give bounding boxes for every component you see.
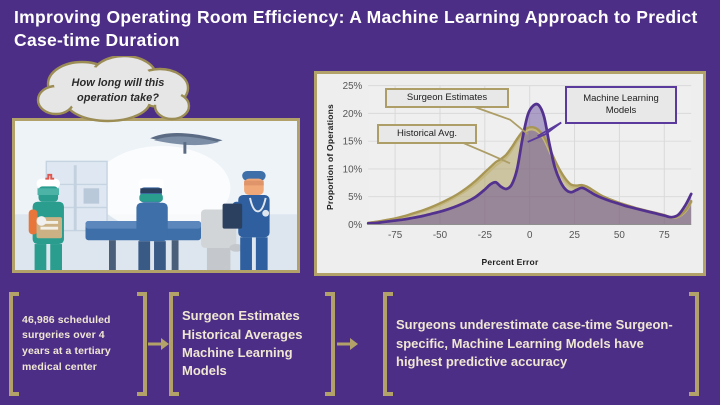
y-tick: 0% bbox=[348, 220, 363, 231]
x-tick: 50 bbox=[614, 230, 626, 241]
flow-box-dataset: 46,986 scheduled surgeries over 4 years … bbox=[8, 292, 148, 396]
thought-bubble: How long will this operation take? bbox=[22, 56, 212, 138]
callout-surgeon-estimates: Surgeon Estimates bbox=[385, 88, 509, 108]
flow-box-dataset-text: 46,986 scheduled surgeries over 4 years … bbox=[8, 313, 148, 376]
flow-arrow-2 bbox=[337, 336, 359, 352]
flow-box-findings: Surgeons underestimate case-time Surgeon… bbox=[382, 292, 700, 396]
chart-y-axis-title: Proportion of Operations bbox=[325, 97, 335, 217]
x-tick: 25 bbox=[569, 230, 581, 241]
bracket-left bbox=[168, 292, 180, 396]
bracket-left bbox=[8, 292, 20, 396]
thought-bubble-text: How long will this operation take? bbox=[48, 76, 188, 106]
chart-panel: -75-50-250255075 0%5%10%15%20%25% Surgeo… bbox=[314, 71, 706, 276]
operating-room-svg bbox=[15, 121, 297, 270]
flow-box-methods-text: Surgeon Estimates Historical Averages Ma… bbox=[168, 307, 336, 381]
flow-box-methods: Surgeon Estimates Historical Averages Ma… bbox=[168, 292, 336, 396]
bracket-right bbox=[688, 292, 700, 396]
y-tick: 15% bbox=[343, 137, 363, 148]
bracket-right bbox=[324, 292, 336, 396]
y-tick: 25% bbox=[343, 81, 363, 92]
callout-machine-learning-models: Machine Learning Models bbox=[565, 86, 677, 124]
bracket-left bbox=[382, 292, 394, 396]
y-tick: 20% bbox=[343, 109, 363, 120]
x-tick: -75 bbox=[388, 230, 403, 241]
callout-historical-avg: Historical Avg. bbox=[377, 124, 477, 144]
operating-room-illustration bbox=[12, 118, 300, 273]
chart-x-axis-title: Percent Error bbox=[317, 257, 703, 267]
x-tick: 75 bbox=[659, 230, 671, 241]
x-tick: -50 bbox=[433, 230, 448, 241]
y-tick: 10% bbox=[343, 164, 363, 175]
x-tick: 0 bbox=[527, 230, 533, 241]
x-tick: -25 bbox=[478, 230, 493, 241]
flow-arrow-1 bbox=[148, 336, 170, 352]
bracket-right bbox=[136, 292, 148, 396]
page-title: Improving Operating Room Efficiency: A M… bbox=[14, 6, 714, 52]
flow-box-findings-text: Surgeons underestimate case-time Surgeon… bbox=[382, 316, 700, 371]
y-tick: 5% bbox=[348, 192, 363, 203]
